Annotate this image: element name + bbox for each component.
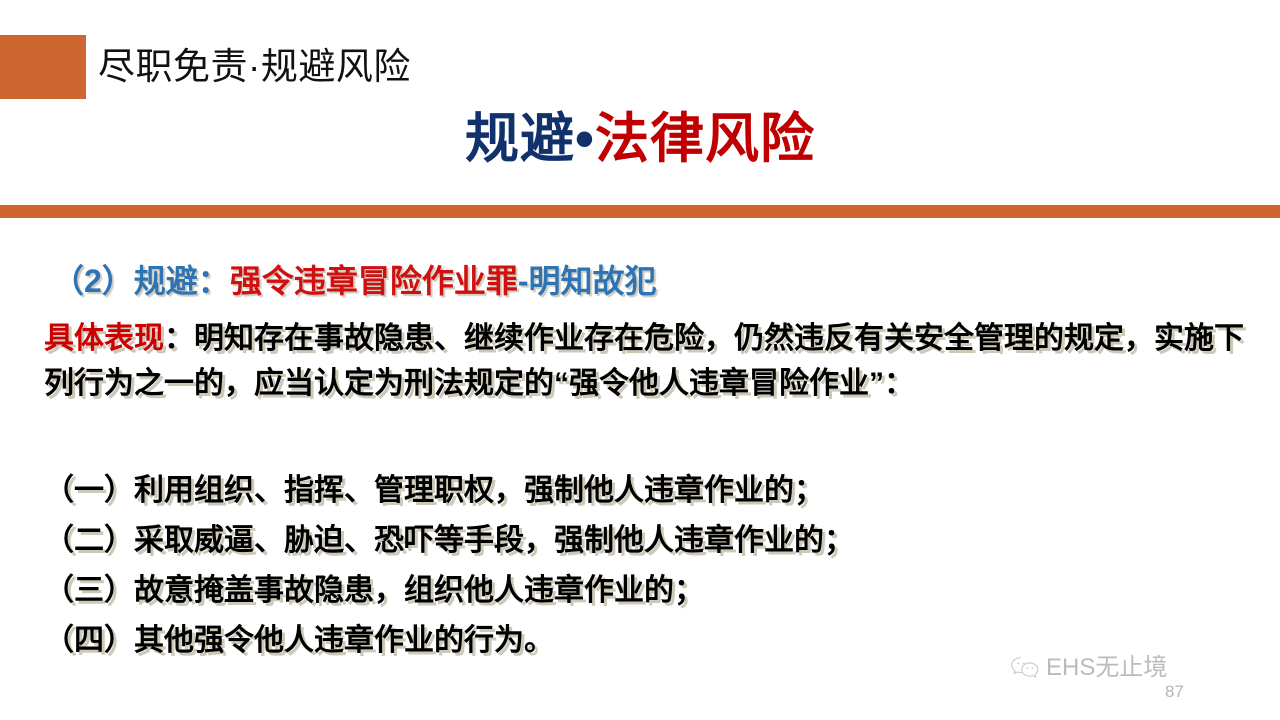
divider-bar [0,205,1280,218]
header-kicker: 尽职免责·规避风险 [98,38,411,96]
page-title-blue: 规避• [465,109,595,169]
section-heading: （2）规避：强令违章冒险作业罪-明知故犯 [52,259,657,303]
list-item: （一）利用组织、指挥、管理职权，强制他人违章作业的； [44,466,1244,516]
watermark-label: EHS无止境 [1046,655,1167,681]
page-number: 87 [1165,682,1184,702]
page-title: 规避•法律风险 [0,104,1280,174]
list-item: （三）故意掩盖事故隐患，组织他人违章作业的； [44,566,1244,616]
section-heading-emphasis: 强令违章冒险作业罪 [230,263,518,299]
header-accent-block [0,35,86,99]
body-text: ：明知存在事故隐患、继续作业存在危险，仍然违反有关安全管理的规定，实施下列行为之… [44,322,1244,400]
watermark: EHS无止境 [1010,655,1167,681]
section-heading-suffix: -明知故犯 [518,263,657,299]
list-item: （二）采取威逼、胁迫、恐吓等手段，强制他人违章作业的； [44,516,1244,566]
enumerated-list: （一）利用组织、指挥、管理职权，强制他人违章作业的； （二）采取威逼、胁迫、恐吓… [44,466,1244,666]
section-heading-prefix: （2）规避： [52,263,230,299]
wechat-icon [1010,655,1040,681]
page-title-red: 法律风险 [595,109,815,169]
body-lead-label: 具体表现 [44,322,164,355]
body-paragraph: 具体表现：明知存在事故隐患、继续作业存在危险，仍然违反有关安全管理的规定，实施下… [44,316,1244,406]
slide: 尽职免责·规避风险 规避•法律风险 （2）规避：强令违章冒险作业罪-明知故犯 具… [0,0,1280,720]
